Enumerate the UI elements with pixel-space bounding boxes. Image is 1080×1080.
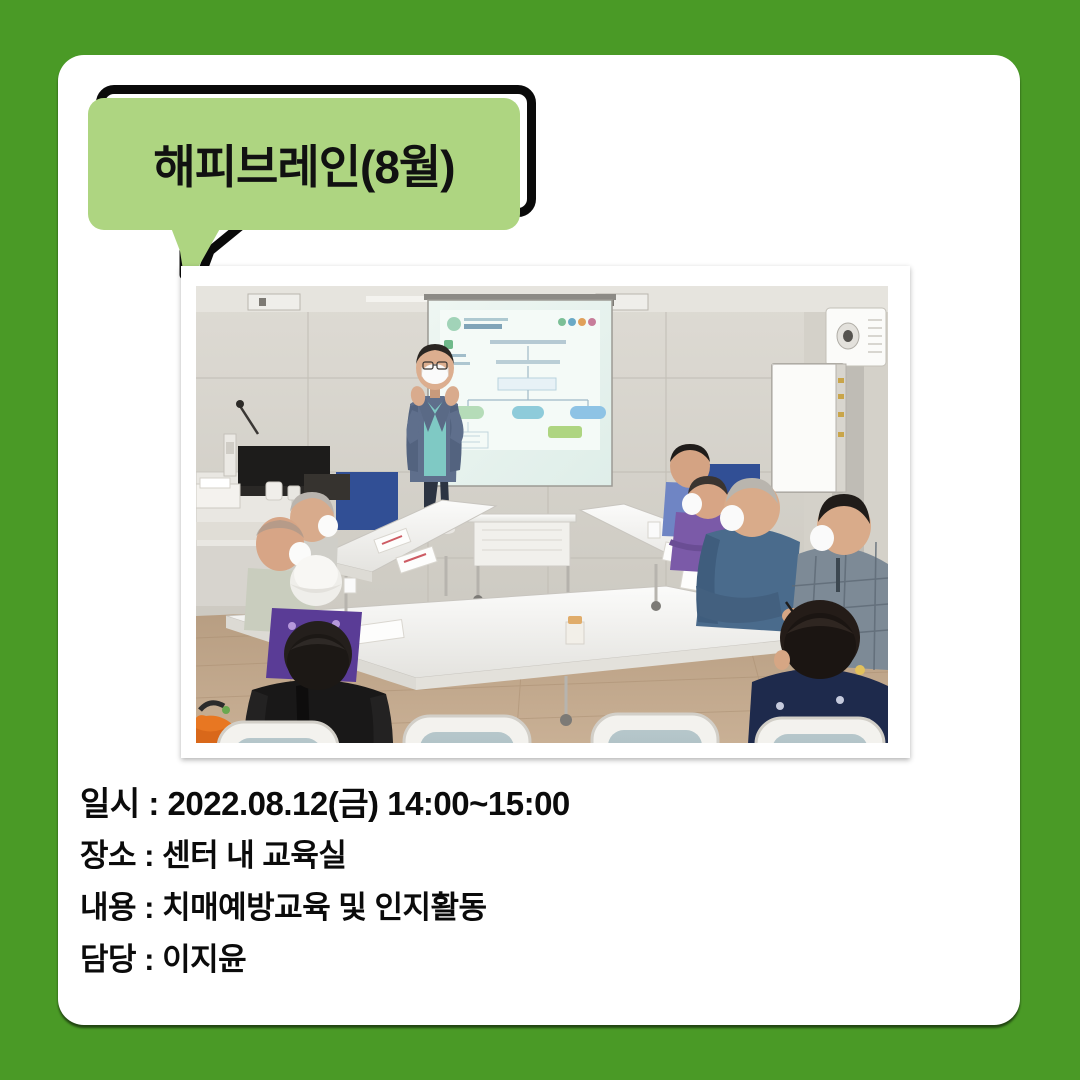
event-photo [196,286,888,743]
event-details: 일시 : 2022.08.12(금) 14:00~15:00 장소 : 센터 내… [80,778,940,986]
detail-line-place: 장소 : 센터 내 교육실 [80,830,940,882]
detail-line-date: 일시 : 2022.08.12(금) 14:00~15:00 [80,778,940,830]
page-title: 해피브레인(8월) [88,98,520,230]
photo-frame [181,266,910,758]
content-card: 해피브레인(8월) [58,55,1020,1025]
detail-line-content: 내용 : 치매예방교육 및 인지활동 [80,882,940,934]
detail-line-manager: 담당 : 이지윤 [80,934,940,986]
